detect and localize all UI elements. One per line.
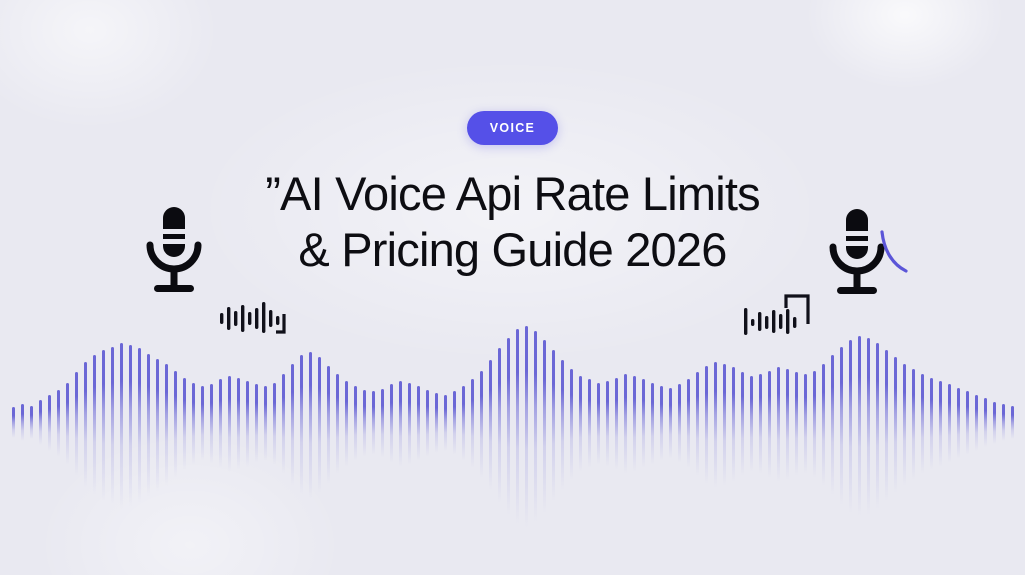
- waveform-bar: [345, 381, 348, 467]
- waveform-bar: [930, 378, 933, 471]
- waveform-bar: [669, 388, 672, 459]
- waveform-bar: [363, 390, 366, 457]
- waveform-bar: [858, 336, 861, 516]
- waveform-bar: [255, 384, 258, 462]
- waveform-bar: [120, 343, 123, 509]
- waveform-bar: [318, 357, 321, 493]
- waveform-bar: [210, 384, 213, 464]
- waveform-bar: [660, 386, 663, 461]
- waveform-bar: [21, 404, 24, 440]
- waveform-bar: [876, 343, 879, 509]
- waveform-bar: [804, 374, 807, 474]
- waveform-bar: [264, 386, 267, 461]
- waveform-bar: [93, 355, 96, 495]
- waveform-bar: [597, 383, 600, 465]
- voice-badge-label: VOICE: [490, 122, 535, 135]
- waveform-bar: [714, 362, 717, 488]
- waveform-bar: [867, 338, 870, 515]
- waveform-bar: [534, 331, 537, 522]
- waveform-bar: [588, 379, 591, 468]
- waveform-bar: [66, 383, 69, 465]
- waveform-bar: [192, 383, 195, 465]
- waveform-bar: [543, 340, 546, 513]
- waveform-bar: [48, 395, 51, 451]
- waveform-bar: [147, 354, 150, 498]
- waveform-bar: [741, 372, 744, 476]
- voice-hero-banner: VOICE ”AI Voice Api Rate Limits & Pricin…: [0, 0, 1025, 575]
- waveform-bar: [822, 364, 825, 486]
- waveform-bar: [381, 389, 384, 458]
- waveform-bar: [183, 378, 186, 471]
- waveform-bar: [201, 386, 204, 461]
- waveform-bar: [390, 384, 393, 462]
- waveform-bar: [750, 376, 753, 472]
- waveform-bar: [138, 348, 141, 503]
- waveform-bar: [102, 350, 105, 501]
- waveform-bar: [1002, 404, 1005, 440]
- waveform-bar: [408, 383, 411, 465]
- waveform-bar: [480, 371, 483, 478]
- waveform-bar: [228, 376, 231, 472]
- waveform-bar: [957, 388, 960, 459]
- waveform-bar: [498, 348, 501, 503]
- voice-badge[interactable]: VOICE: [467, 111, 558, 145]
- waveform-bar: [912, 369, 915, 480]
- waveform-bar: [894, 357, 897, 493]
- waveform-bar: [786, 369, 789, 480]
- waveform-bar: [579, 376, 582, 472]
- waveform-bar: [309, 352, 312, 499]
- waveform-bar: [768, 371, 771, 478]
- waveform-bar: [444, 395, 447, 451]
- waveform-bar: [759, 374, 762, 474]
- audio-waveform: [0, 318, 1025, 528]
- waveform-bar: [165, 364, 168, 486]
- waveform-bar: [678, 384, 681, 462]
- waveform-bar: [633, 376, 636, 472]
- waveform-bar: [993, 402, 996, 444]
- waveform-bar: [606, 381, 609, 467]
- waveform-bar: [687, 379, 690, 468]
- waveform-bar: [327, 366, 330, 484]
- waveform-bar: [282, 374, 285, 474]
- waveform-bar: [462, 386, 465, 461]
- waveform-bar: [921, 374, 924, 474]
- waveform-bar: [417, 386, 420, 461]
- waveform-bar: [129, 345, 132, 507]
- waveform-bar: [426, 390, 429, 457]
- waveform-bar: [219, 379, 222, 468]
- waveform-bar: [948, 384, 951, 462]
- waveform-bar: [831, 355, 834, 495]
- waveform-bar: [507, 338, 510, 515]
- waveform-bar: [1011, 406, 1014, 439]
- waveform-bar: [561, 360, 564, 489]
- waveform-bar: [489, 360, 492, 489]
- waveform-bar: [399, 381, 402, 467]
- waveform-bar: [696, 372, 699, 476]
- waveform-bar: [111, 347, 114, 505]
- waveform-bar: [273, 383, 276, 465]
- waveform-bar: [471, 379, 474, 468]
- waveform-bar: [84, 362, 87, 488]
- waveform-bar: [246, 381, 249, 467]
- waveform-bar: [354, 386, 357, 461]
- waveform-bar: [30, 406, 33, 439]
- waveform-bar: [984, 398, 987, 447]
- background-glow-top-right: [805, 0, 1005, 90]
- waveform-bar: [705, 366, 708, 484]
- sound-wave-arc-icon: [878, 228, 912, 276]
- waveform-bar: [516, 329, 519, 524]
- waveform-bar: [291, 364, 294, 486]
- waveform-bar: [12, 407, 15, 438]
- waveform-bar: [300, 355, 303, 495]
- background-glow-top-left: [0, 0, 220, 130]
- waveform-bar: [849, 340, 852, 513]
- waveform-bar: [75, 372, 78, 476]
- waveform-bar: [156, 359, 159, 492]
- waveform-bar: [237, 378, 240, 471]
- waveform-bar: [795, 372, 798, 476]
- waveform-bar: [939, 381, 942, 467]
- waveform-bar: [552, 350, 555, 501]
- waveform-bar: [732, 367, 735, 482]
- waveform-bar: [975, 395, 978, 451]
- waveform-bar: [777, 367, 780, 482]
- waveform-bar: [525, 326, 528, 528]
- waveform-bar: [39, 400, 42, 445]
- waveform-bar: [174, 371, 177, 478]
- waveform-bar: [624, 374, 627, 474]
- waveform-bar: [453, 391, 456, 455]
- waveform-bar: [615, 378, 618, 471]
- waveform-bar: [336, 374, 339, 474]
- waveform-bar: [813, 371, 816, 478]
- waveform-bar: [570, 369, 573, 480]
- waveform-bar: [642, 379, 645, 468]
- waveform-bar: [903, 364, 906, 486]
- waveform-bar: [966, 391, 969, 455]
- waveform-bar: [372, 391, 375, 455]
- waveform-bar: [435, 393, 438, 453]
- waveform-bar: [723, 364, 726, 486]
- microphone-icon: [140, 205, 208, 301]
- waveform-bar: [651, 383, 654, 465]
- waveform-bar: [57, 390, 60, 457]
- waveform-bar: [840, 347, 843, 505]
- waveform-bar: [885, 350, 888, 501]
